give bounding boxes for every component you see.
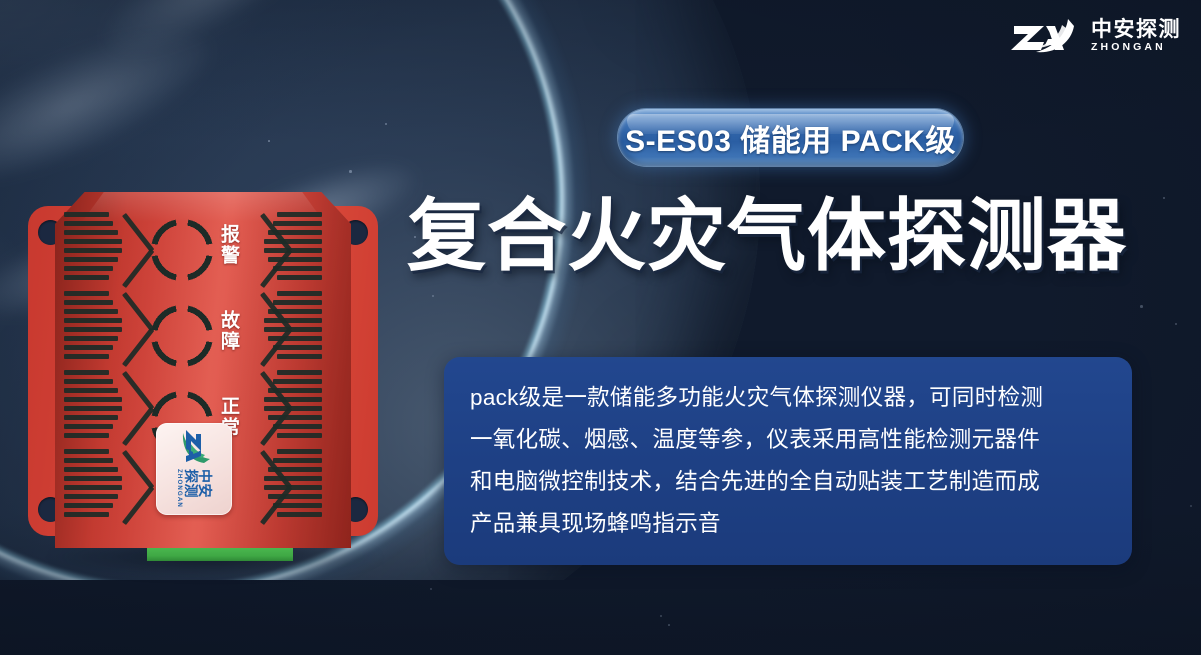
brand-name-cn: 中安探测	[1091, 19, 1181, 40]
led-ring-fault	[150, 304, 214, 368]
device-nameplate: 中安探测 ZHONGAN	[156, 423, 232, 515]
star-speck	[1190, 505, 1192, 507]
star-speck	[349, 170, 352, 173]
heatsink-chevron	[256, 289, 322, 368]
star-speck	[668, 624, 670, 626]
star-speck	[432, 295, 434, 297]
led-ring-alarm	[150, 218, 214, 282]
description-panel: pack级是一款储能多功能火灾气体探测仪器，可同时检测 一氧化碳、烟感、温度等参…	[444, 357, 1132, 565]
heatsink-fins-left	[64, 210, 130, 528]
nameplate-name-en: ZHONGAN	[176, 469, 182, 512]
za-swoosh-logo-icon	[174, 426, 214, 466]
za-swoosh-logo-icon	[1008, 14, 1082, 58]
model-badge: S-ES03 储能用 PACK级	[618, 109, 963, 166]
heatsink-fins-right	[256, 210, 322, 528]
star-speck	[1163, 197, 1165, 199]
brand-name-en: ZHONGAN	[1091, 42, 1181, 53]
product-device-image: 报警 故障 正常 中安探测 ZHONGAN	[28, 192, 400, 580]
star-speck	[268, 140, 270, 142]
description-line: 产品兼具现场蜂鸣指示音	[470, 503, 1108, 545]
heatsink-chevron	[256, 368, 322, 447]
heatsink-chevron	[256, 210, 322, 289]
star-speck	[1140, 305, 1143, 308]
nameplate-name-cn: 中安探测	[184, 469, 212, 512]
star-speck	[430, 588, 432, 590]
led-dot-alarm	[171, 239, 193, 261]
star-speck	[660, 615, 662, 617]
star-speck	[385, 123, 387, 125]
page-title: 复合火灾气体探测器	[407, 196, 1127, 275]
led-label-alarm: 报警	[220, 224, 242, 266]
nameplate-wordmark: 中安探测 ZHONGAN	[176, 469, 212, 512]
heatsink-chevron	[64, 289, 130, 368]
description-line: pack级是一款储能多功能火灾气体探测仪器，可同时检测	[470, 377, 1108, 419]
heatsink-chevron	[64, 210, 130, 289]
cloud-band-icon	[88, 0, 352, 78]
description-line: 一氧化碳、烟感、温度等参，仪表采用高性能检测元器件	[470, 419, 1108, 461]
brand-wordmark: 中安探测 ZHONGAN	[1091, 19, 1181, 53]
heatsink-chevron	[64, 368, 130, 447]
model-badge-label: S-ES03 储能用 PACK级	[625, 116, 956, 160]
product-banner: 中安探测 ZHONGAN S-ES03 储能用 PACK级 复合火灾气体探测器 …	[0, 0, 1201, 655]
led-dot-fault	[171, 325, 193, 347]
heatsink-chevron	[256, 447, 322, 526]
brand-logo: 中安探测 ZHONGAN	[1008, 14, 1181, 58]
heatsink-chevron	[64, 447, 130, 526]
led-label-fault: 故障	[220, 310, 242, 352]
cloud-band-icon	[0, 3, 226, 209]
nameplate-logo: 中安探测 ZHONGAN	[163, 426, 225, 512]
description-line: 和电脑微控制技术，结合先进的全自动贴装工艺制造而成	[470, 461, 1108, 503]
star-speck	[1175, 323, 1177, 325]
